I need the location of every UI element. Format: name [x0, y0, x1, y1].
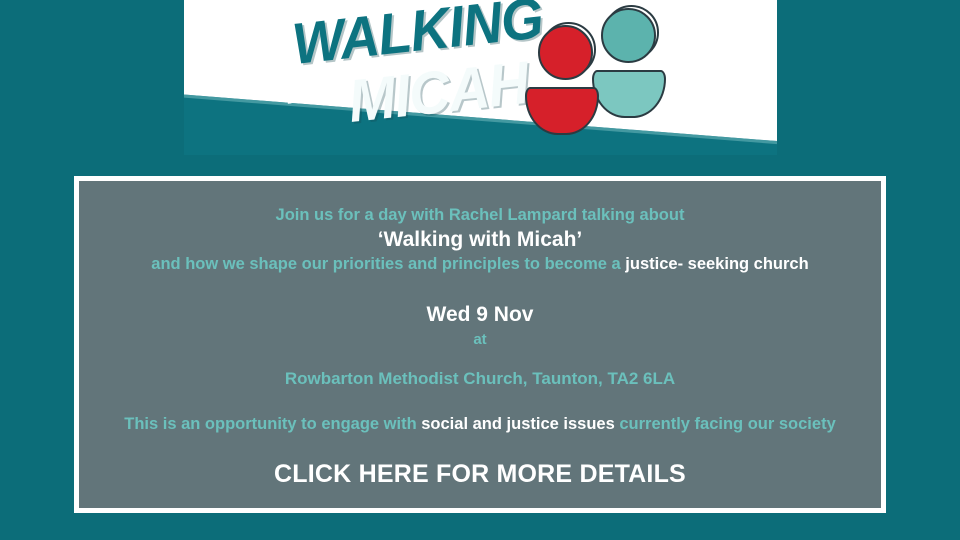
- opportunity-tail: currently facing our society: [615, 415, 836, 433]
- event-venue: Rowbarton Methodist Church, Taunton, TA2…: [79, 369, 881, 389]
- click-here-link[interactable]: CLICK HERE FOR MORE DETAILS: [79, 460, 881, 489]
- event-subtitle-emphasis: justice- seeking church: [625, 255, 808, 273]
- event-at-label: at: [79, 331, 881, 348]
- event-subtitle-lead: and how we shape our priorities and prin…: [151, 255, 625, 273]
- logo-figure-red-head-icon: [538, 25, 593, 80]
- logo-figure-teal-head-icon: [601, 8, 656, 63]
- event-title: ‘Walking with Micah’: [79, 228, 881, 252]
- event-opportunity-line: This is an opportunity to engage with so…: [79, 415, 881, 434]
- intro-line: Join us for a day with Rachel Lampard ta…: [79, 206, 881, 225]
- logo-banner: WALKING WITH MICAH: [184, 0, 777, 155]
- event-subtitle: and how we shape our priorities and prin…: [79, 255, 881, 274]
- event-details-panel: Join us for a day with Rachel Lampard ta…: [74, 176, 886, 513]
- logo-word-with: WITH: [284, 82, 337, 108]
- opportunity-emphasis: social and justice issues: [421, 415, 615, 433]
- intro-block: Join us for a day with Rachel Lampard ta…: [79, 206, 881, 275]
- opportunity-lead: This is an opportunity to engage with: [124, 415, 421, 433]
- event-date: Wed 9 Nov: [79, 303, 881, 327]
